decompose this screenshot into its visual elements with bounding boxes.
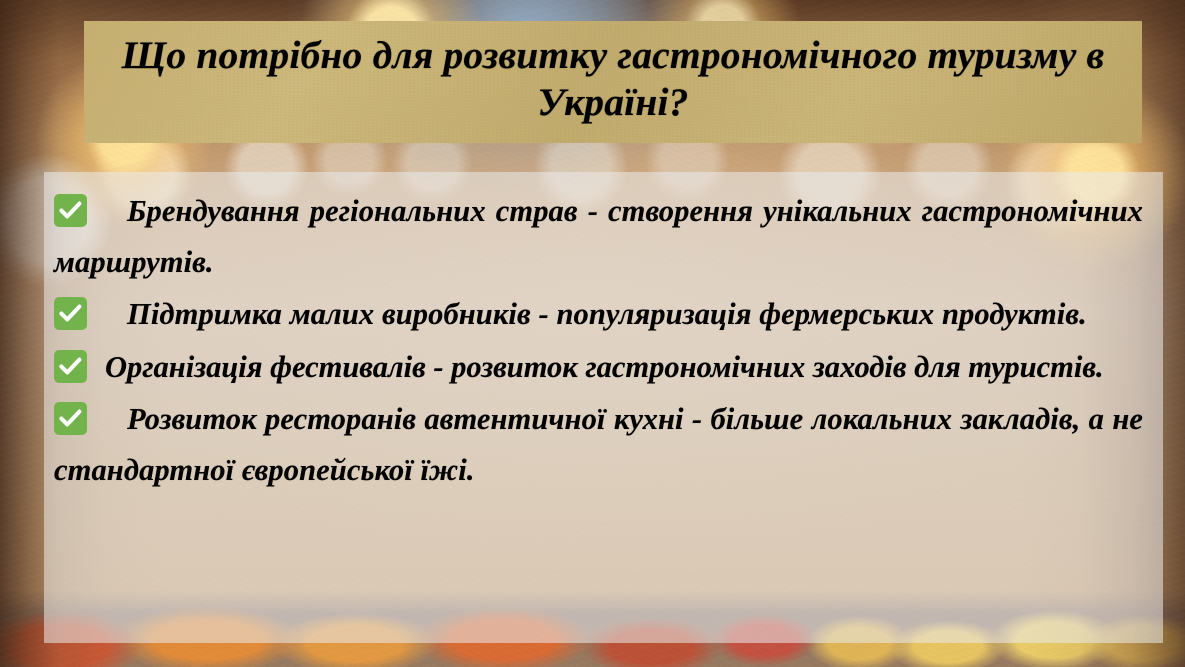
green-check-icon xyxy=(54,350,87,383)
green-check-icon xyxy=(54,194,87,227)
list-item-text: Організація фестивалів - розвиток гастро… xyxy=(105,350,1104,384)
list-item: Розвиток ресторанів автентичної кухні - … xyxy=(54,394,1145,495)
list-item: Організація фестивалів - розвиток гастро… xyxy=(54,342,1145,393)
slide-canvas: Що потрібно для розвитку гастрономічного… xyxy=(0,0,1185,667)
list-item-text: Розвиток ресторанів автентичної кухні - … xyxy=(54,402,1143,487)
content-panel: Брендування регіональних страв - створен… xyxy=(44,172,1163,643)
list-item-text: Підтримка малих виробників - популяризац… xyxy=(127,297,1087,331)
green-check-icon xyxy=(54,297,87,330)
title-band: Що потрібно для розвитку гастрономічного… xyxy=(84,21,1142,143)
green-check-icon xyxy=(54,402,87,435)
list-item: Підтримка малих виробників - популяризац… xyxy=(54,289,1145,340)
list-item-text: Брендування регіональних страв - створен… xyxy=(54,194,1143,279)
list-item: Брендування регіональних страв - створен… xyxy=(54,186,1145,287)
page-title: Що потрібно для розвитку гастрономічного… xyxy=(120,32,1106,126)
